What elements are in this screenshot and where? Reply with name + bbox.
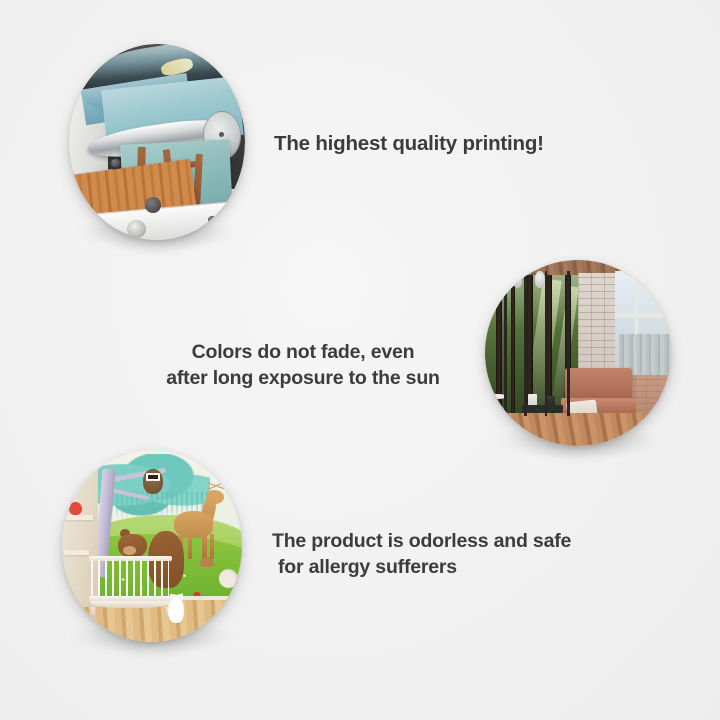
mural-panel-divider-2 [524, 271, 527, 416]
pendant-lamp-1 [513, 271, 522, 288]
feature-text-fade-resistance: Colors do not fade, even after long expo… [153, 339, 453, 391]
printing-press-photo-inner [69, 44, 245, 240]
mural-bunny [168, 596, 184, 623]
feature-text-odorless-safe: The product is odorless and safe for all… [272, 528, 571, 580]
mural-panel-divider-4 [567, 271, 570, 416]
press-knob-4 [208, 216, 217, 225]
feature-line: The highest quality printing! [274, 130, 544, 157]
nursery-shelf-1 [64, 515, 93, 520]
wood-floor [485, 413, 671, 446]
feature-text-printing-quality: The highest quality printing! [274, 130, 544, 157]
feature-line: for allergy sufferers [272, 554, 571, 580]
printing-press-photo[interactable] [69, 44, 245, 240]
pendant-lamp-2 [535, 271, 544, 288]
mural-panel-divider-3 [545, 271, 548, 416]
living-room-forest-mural-photo[interactable] [485, 260, 671, 446]
nursery-toy [69, 502, 82, 515]
mural-tree-trunk-2 [511, 275, 515, 416]
baby-crib [89, 556, 172, 617]
mural-bear-muzzle [123, 546, 136, 555]
feature-line: after long exposure to the sun [153, 365, 453, 391]
feature-line: The product is odorless and safe [272, 528, 571, 554]
mural-panel-divider-1 [504, 271, 507, 416]
nursery-animal-mural-photo[interactable] [62, 450, 242, 642]
crib-skirt [91, 601, 170, 608]
mural-tree-trunk-1 [496, 275, 502, 424]
feature-line: Colors do not fade, even [153, 339, 453, 365]
living-room-photo-inner [485, 260, 671, 446]
crib-leg-1 [91, 607, 94, 617]
feature-collage: The highest quality printing! [0, 0, 720, 720]
nursery-shelf-2 [64, 550, 89, 555]
mural-mushroom [199, 556, 215, 568]
nursery-photo-inner [62, 450, 242, 642]
crib-bars [91, 560, 169, 598]
mural-deer-leg-2 [188, 534, 192, 559]
press-knob-1 [145, 197, 161, 213]
mural-owl-pupils [148, 475, 159, 479]
coffee-table [522, 405, 563, 412]
